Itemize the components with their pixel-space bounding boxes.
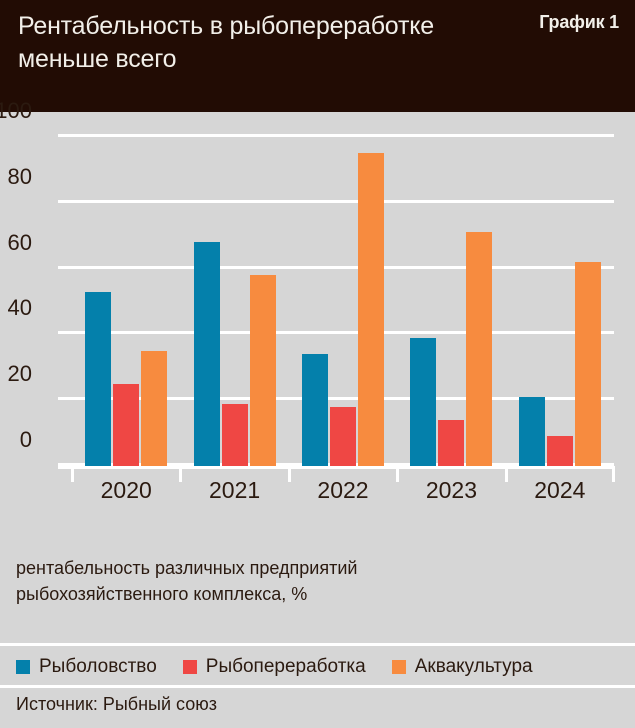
x-axis-label-2023: 2023 <box>397 477 505 504</box>
bar[interactable] <box>141 351 167 466</box>
bar[interactable] <box>250 275 276 466</box>
legend-label: Аквакультура <box>415 656 533 678</box>
legend-label: Рыболовство <box>39 656 157 678</box>
x-axis-label-2022: 2022 <box>289 477 397 504</box>
y-axis-tick-label: 40 <box>0 295 32 321</box>
y-tick-mark <box>58 266 72 269</box>
legend-swatch-icon <box>392 660 406 674</box>
y-tick-mark <box>58 331 72 334</box>
bar[interactable] <box>85 292 111 466</box>
legend-item[interactable]: Рыболовство <box>16 656 157 678</box>
legend-bottom-divider <box>0 685 635 688</box>
bar-group-2022 <box>289 137 397 466</box>
y-axis-tick-label: 60 <box>0 230 32 256</box>
legend-swatch-icon <box>183 660 197 674</box>
bar[interactable] <box>194 242 220 466</box>
bar[interactable] <box>330 407 356 466</box>
bar-group-2023 <box>397 137 505 466</box>
bar[interactable] <box>302 354 328 466</box>
bar-group-2021 <box>180 137 288 466</box>
y-axis-tick-label: 80 <box>0 164 32 190</box>
bar[interactable] <box>358 153 384 466</box>
y-tick-mark <box>58 200 72 203</box>
bar-group-2020 <box>72 137 180 466</box>
y-tick-mark <box>58 134 72 137</box>
y-axis-tick-label: 20 <box>0 361 32 387</box>
legend-label: Рыбопереработка <box>206 656 366 678</box>
source-note: Источник: Рыбный союз <box>16 694 217 715</box>
bar[interactable] <box>438 420 464 466</box>
y-axis-tick-label: 100 <box>0 98 32 124</box>
bar[interactable] <box>222 404 248 467</box>
bar[interactable] <box>575 262 601 466</box>
legend-item[interactable]: Рыбопереработка <box>183 656 366 678</box>
bar[interactable] <box>519 397 545 466</box>
chart-subtitle: рентабельность различных предприятий рыб… <box>16 555 576 607</box>
plot-area: 020406080100 <box>72 137 614 466</box>
x-axis-label-2024: 2024 <box>506 477 614 504</box>
bar-groups <box>72 137 614 466</box>
x-axis-labels: 20202021202220232024 <box>72 477 614 504</box>
legend-swatch-icon <box>16 660 30 674</box>
y-axis-tick-label: 0 <box>0 427 32 453</box>
x-axis-label-2020: 2020 <box>72 477 180 504</box>
legend-item[interactable]: Аквакультура <box>392 656 533 678</box>
bar-group-2024 <box>506 137 614 466</box>
chart-area: 020406080100 20202021202220232024 <box>0 112 635 542</box>
figure-number-badge: График 1 <box>539 12 619 33</box>
page-title: Рентабельность в рыбопереработке меньше … <box>18 10 498 77</box>
bar[interactable] <box>547 436 573 466</box>
bar[interactable] <box>466 232 492 466</box>
y-tick-mark <box>58 397 72 400</box>
chart-header: Рентабельность в рыбопереработке меньше … <box>0 0 635 112</box>
legend-top-divider <box>0 643 635 646</box>
x-axis-line <box>58 466 614 469</box>
chart-legend: РыболовствоРыбопереработкаАквакультура <box>16 652 533 682</box>
bar[interactable] <box>113 384 139 466</box>
x-axis-label-2021: 2021 <box>180 477 288 504</box>
bar[interactable] <box>410 338 436 466</box>
